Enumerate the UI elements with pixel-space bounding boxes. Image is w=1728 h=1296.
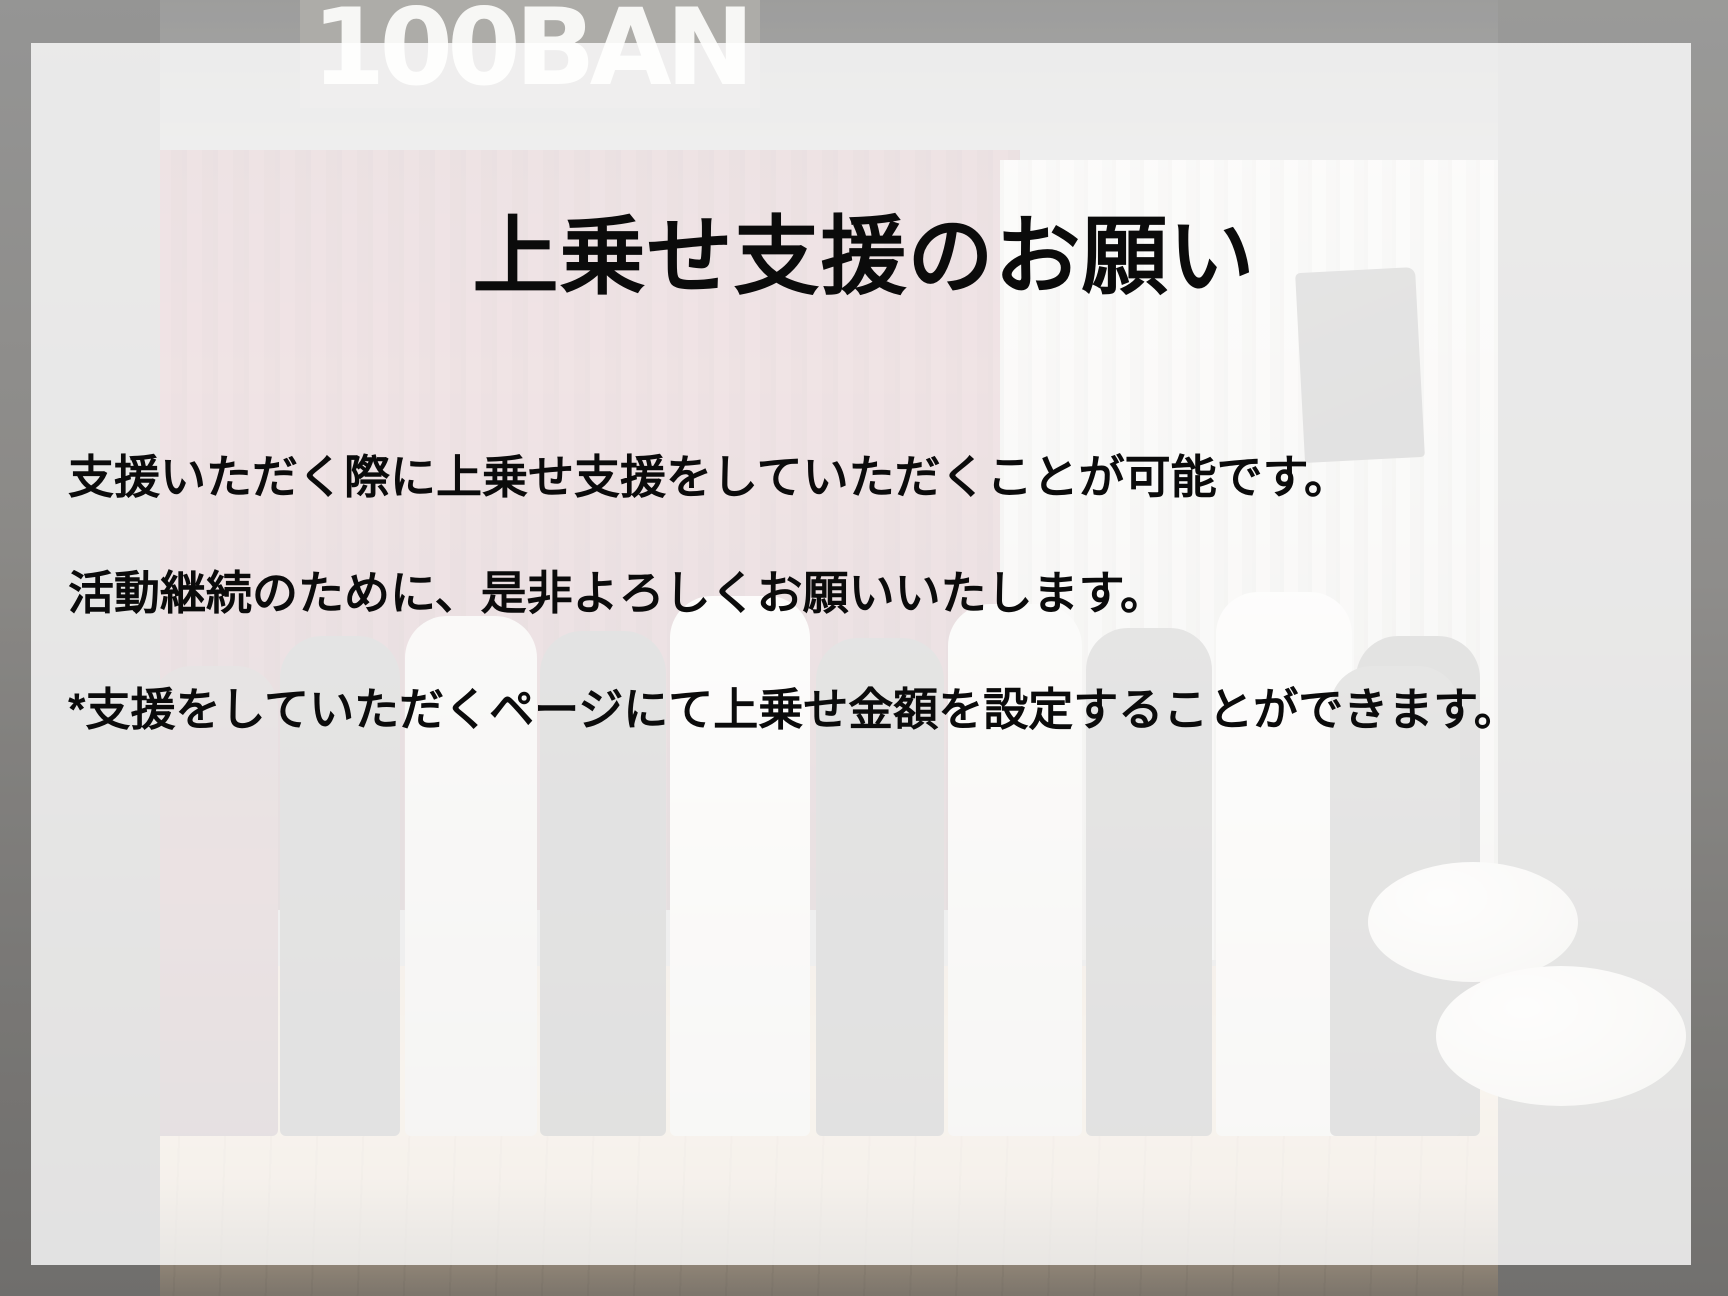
page-title: 上乗せ支援のお願い — [0, 210, 1728, 305]
slide-root: 100BAN 上乗せ支援のお願い 支援いただく際に上乗せ支援をしていただくことが… — [0, 0, 1728, 1296]
body-line-3-note: *支援をしていただくページにて上乗せ金額を設定することができます。 — [68, 683, 1648, 736]
slide-content: 上乗せ支援のお願い 支援いただく際に上乗せ支援をしていただくことが可能です。 活… — [0, 0, 1728, 1296]
body-line-1: 支援いただく際に上乗せ支援をしていただくことが可能です。 — [68, 450, 1648, 504]
body-line-2: 活動継続のために、是非よろしくお願いいたします。 — [68, 566, 1648, 620]
body-text-block: 支援いただく際に上乗せ支援をしていただくことが可能です。 活動継続のために、是非… — [68, 404, 1648, 781]
